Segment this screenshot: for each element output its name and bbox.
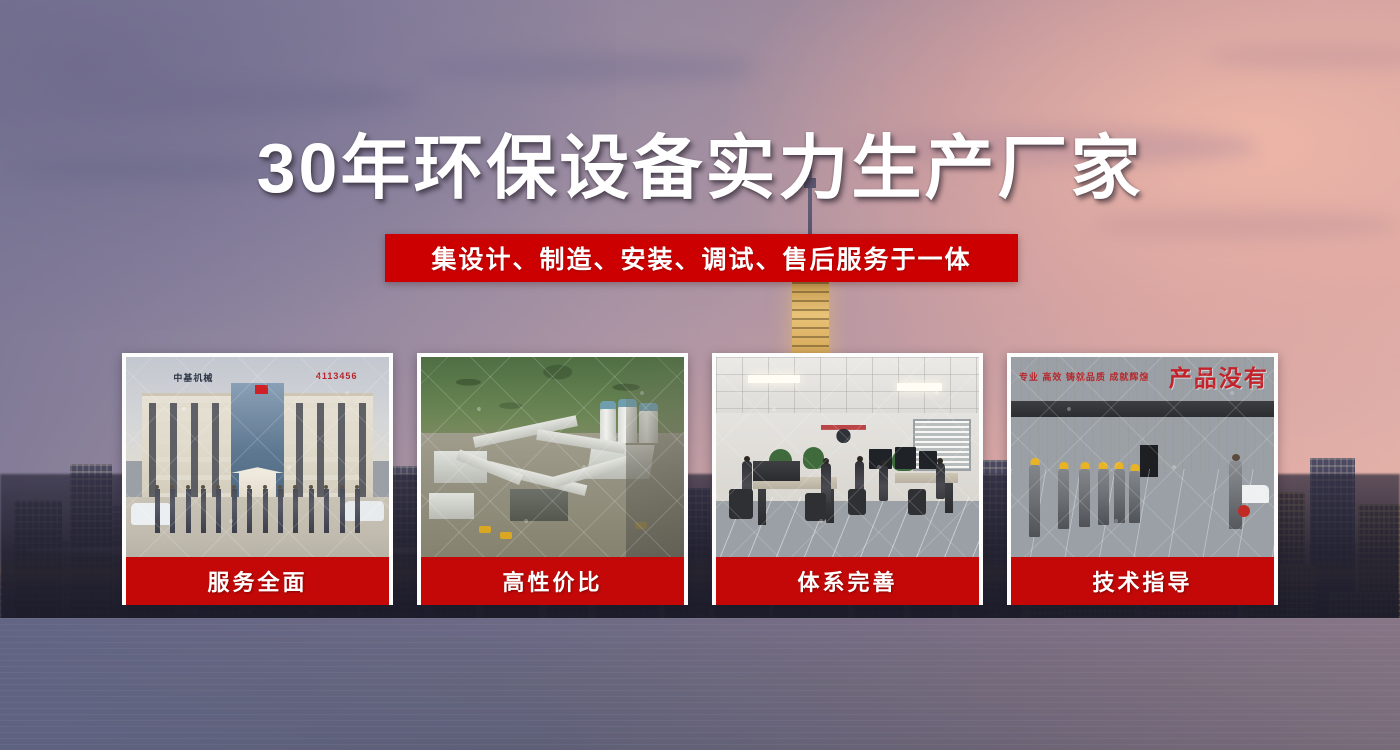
cloud-streak bbox=[420, 53, 756, 83]
feature-card-system[interactable]: 体系完善 bbox=[712, 353, 983, 605]
subtitle-text: 集设计、制造、安装、调试、售后服务于一体 bbox=[431, 240, 971, 276]
feature-card-caption: 服务全面 bbox=[126, 557, 389, 605]
office-interior-photo bbox=[716, 357, 979, 557]
cloud-streak bbox=[1204, 45, 1400, 68]
feature-card-list: 中基机械 4113456 服务全面 bbox=[122, 353, 1278, 605]
feature-card-caption: 技术指导 bbox=[1011, 557, 1274, 605]
industrial-plant-aerial-photo bbox=[421, 357, 684, 557]
river-water bbox=[0, 618, 1400, 750]
subtitle-banner: 集设计、制造、安装、调试、售后服务于一体 bbox=[385, 234, 1018, 282]
promo-banner: 30年环保设备实力生产厂家 集设计、制造、安装、调试、售后服务于一体 中基机械 … bbox=[0, 0, 1400, 750]
feature-card-caption: 体系完善 bbox=[716, 557, 979, 605]
feature-card-caption: 高性价比 bbox=[421, 557, 684, 605]
feature-card-value[interactable]: 高性价比 bbox=[417, 353, 688, 605]
feature-card-service[interactable]: 中基机械 4113456 服务全面 bbox=[122, 353, 393, 605]
watermark-overlay bbox=[126, 357, 389, 557]
technical-training-photo: 产品没有 专业 高效 铸就品质 成就辉煌 bbox=[1011, 357, 1274, 557]
feature-card-guidance[interactable]: 产品没有 专业 高效 铸就品质 成就辉煌 技术指导 bbox=[1007, 353, 1278, 605]
watermark-overlay bbox=[716, 357, 979, 557]
cloud-streak bbox=[56, 83, 420, 113]
company-headquarters-photo: 中基机械 4113456 bbox=[126, 357, 389, 557]
watermark-overlay bbox=[1011, 357, 1274, 557]
watermark-overlay bbox=[421, 357, 684, 557]
page-title: 30年环保设备实力生产厂家 bbox=[0, 128, 1400, 209]
